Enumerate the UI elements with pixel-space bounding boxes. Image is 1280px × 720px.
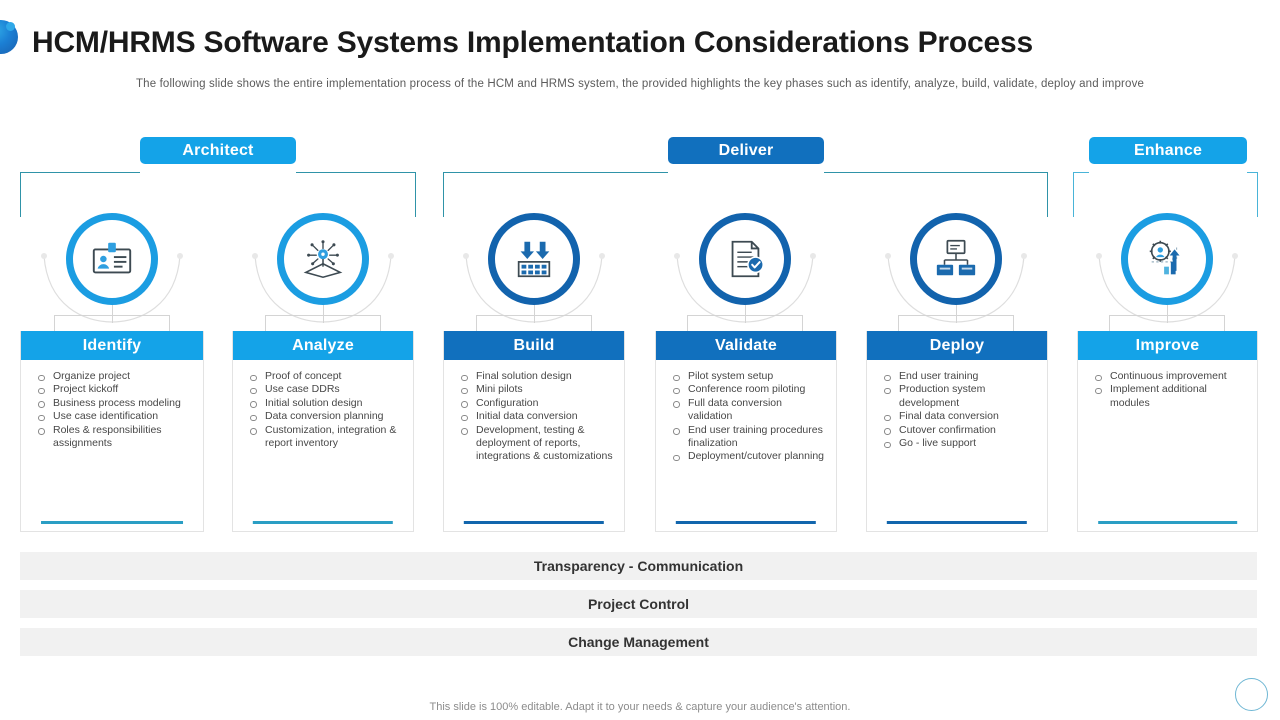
list-item: Production system development bbox=[877, 383, 1039, 410]
list-item: Proof of concept bbox=[243, 370, 405, 383]
bracket-mask-architect bbox=[140, 172, 296, 177]
list-item: Initial solution design bbox=[243, 397, 405, 410]
page-title: HCM/HRMS Software Systems Implementation… bbox=[32, 26, 1033, 60]
list-item: Business process modeling bbox=[31, 397, 195, 410]
card-bracket-identify bbox=[54, 315, 170, 331]
phase-card-header-identify: Identify bbox=[21, 331, 203, 360]
list-item: Configuration bbox=[454, 397, 616, 410]
list-item: Project kickoff bbox=[31, 383, 195, 396]
list-item: Data conversion planning bbox=[243, 410, 405, 423]
list-item: Deployment/cutover planning bbox=[666, 450, 828, 463]
phase-card-body-improve: Continuous improvement Implement additio… bbox=[1078, 360, 1257, 410]
list-item: Use case identification bbox=[31, 410, 195, 423]
list-item: Roles & responsibilities assignments bbox=[31, 424, 195, 451]
phase-card-underline-deploy bbox=[887, 521, 1027, 524]
node-deploy bbox=[910, 213, 1002, 305]
node-validate bbox=[699, 213, 791, 305]
list-item: Conference room piloting bbox=[666, 383, 828, 396]
document-check-icon bbox=[699, 213, 791, 305]
phase-card-header-validate: Validate bbox=[656, 331, 836, 360]
list-item: Final data conversion bbox=[877, 410, 1039, 423]
bottom-bar-change-management: Change Management bbox=[20, 628, 1257, 656]
list-item: Continuous improvement bbox=[1088, 370, 1249, 383]
card-bracket-improve bbox=[1109, 315, 1225, 331]
node-analyze bbox=[277, 213, 369, 305]
bottom-bar-transparency: Transparency - Communication bbox=[20, 552, 1257, 580]
phase-card-underline-build bbox=[464, 521, 604, 524]
phase-bullet-list-validate: Pilot system setup Conference room pilot… bbox=[666, 370, 828, 464]
phase-bullet-list-improve: Continuous improvement Implement additio… bbox=[1088, 370, 1249, 410]
list-item: Implement additional modules bbox=[1088, 383, 1249, 410]
card-bracket-deploy bbox=[898, 315, 1014, 331]
list-item: Pilot system setup bbox=[666, 370, 828, 383]
phase-card-body-build: Final solution design Mini pilots Config… bbox=[444, 360, 624, 464]
phase-card-identify[interactable]: Identify Organize project Project kickof… bbox=[20, 331, 204, 532]
slide-root: HCM/HRMS Software Systems Implementation… bbox=[0, 0, 1280, 720]
page-subtitle: The following slide shows the entire imp… bbox=[30, 78, 1250, 90]
group-bracket-enhance bbox=[1073, 172, 1258, 217]
gear-growth-chart-icon bbox=[1121, 213, 1213, 305]
phase-card-underline-validate bbox=[676, 521, 816, 524]
list-item: Final solution design bbox=[454, 370, 616, 383]
list-item: Organize project bbox=[31, 370, 195, 383]
phase-card-body-deploy: End user training Production system deve… bbox=[867, 360, 1047, 450]
bracket-mask-deliver bbox=[668, 172, 824, 177]
phase-card-validate[interactable]: Validate Pilot system setup Conference r… bbox=[655, 331, 837, 532]
group-label-enhance: Enhance bbox=[1089, 137, 1247, 164]
bracket-mask-enhance bbox=[1089, 172, 1247, 177]
footer-note: This slide is 100% editable. Adapt it to… bbox=[0, 701, 1280, 713]
list-item: Customization, integration & report inve… bbox=[243, 424, 405, 451]
group-label-architect: Architect bbox=[140, 137, 296, 164]
phase-card-body-validate: Pilot system setup Conference room pilot… bbox=[656, 360, 836, 464]
company-logo-dot-icon bbox=[6, 22, 15, 31]
group-bracket-architect bbox=[20, 172, 416, 217]
list-item: End user training procedures finalizatio… bbox=[666, 424, 828, 451]
list-item: Initial data conversion bbox=[454, 410, 616, 423]
phase-card-analyze[interactable]: Analyze Proof of concept Use case DDRs I… bbox=[232, 331, 414, 532]
phase-card-underline-analyze bbox=[253, 521, 393, 524]
phase-card-improve[interactable]: Improve Continuous improvement Implement… bbox=[1077, 331, 1258, 532]
id-badge-icon bbox=[66, 213, 158, 305]
network-analysis-icon bbox=[277, 213, 369, 305]
phase-card-header-deploy: Deploy bbox=[867, 331, 1047, 360]
card-bracket-validate bbox=[687, 315, 803, 331]
phase-card-underline-improve bbox=[1098, 521, 1238, 524]
phase-card-deploy[interactable]: Deploy End user training Production syst… bbox=[866, 331, 1048, 532]
phase-card-header-improve: Improve bbox=[1078, 331, 1257, 360]
phase-card-body-identify: Organize project Project kickoff Busines… bbox=[21, 360, 203, 450]
phase-bullet-list-analyze: Proof of concept Use case DDRs Initial s… bbox=[243, 370, 405, 450]
list-item: Full data conversion validation bbox=[666, 397, 828, 424]
group-bracket-deliver bbox=[443, 172, 1048, 217]
bottom-bar-project-control: Project Control bbox=[20, 590, 1257, 618]
phase-card-header-build: Build bbox=[444, 331, 624, 360]
list-item: Use case DDRs bbox=[243, 383, 405, 396]
phase-card-underline-identify bbox=[41, 521, 183, 524]
phase-card-body-analyze: Proof of concept Use case DDRs Initial s… bbox=[233, 360, 413, 450]
list-item: Go - live support bbox=[877, 437, 1039, 450]
node-build bbox=[488, 213, 580, 305]
group-label-deliver: Deliver bbox=[668, 137, 824, 164]
card-bracket-build bbox=[476, 315, 592, 331]
list-item: Development, testing & deployment of rep… bbox=[454, 424, 616, 464]
phase-bullet-list-build: Final solution design Mini pilots Config… bbox=[454, 370, 616, 464]
list-item: Cutover confirmation bbox=[877, 424, 1039, 437]
network-deployment-icon bbox=[910, 213, 1002, 305]
phase-card-build[interactable]: Build Final solution design Mini pilots … bbox=[443, 331, 625, 532]
data-load-arrows-icon bbox=[488, 213, 580, 305]
list-item: Mini pilots bbox=[454, 383, 616, 396]
phase-bullet-list-deploy: End user training Production system deve… bbox=[877, 370, 1039, 450]
phase-card-header-analyze: Analyze bbox=[233, 331, 413, 360]
circle-outline-icon bbox=[1235, 678, 1268, 711]
card-bracket-analyze bbox=[265, 315, 381, 331]
node-identify bbox=[66, 213, 158, 305]
node-improve bbox=[1121, 213, 1213, 305]
list-item: End user training bbox=[877, 370, 1039, 383]
phase-bullet-list-identify: Organize project Project kickoff Busines… bbox=[31, 370, 195, 450]
